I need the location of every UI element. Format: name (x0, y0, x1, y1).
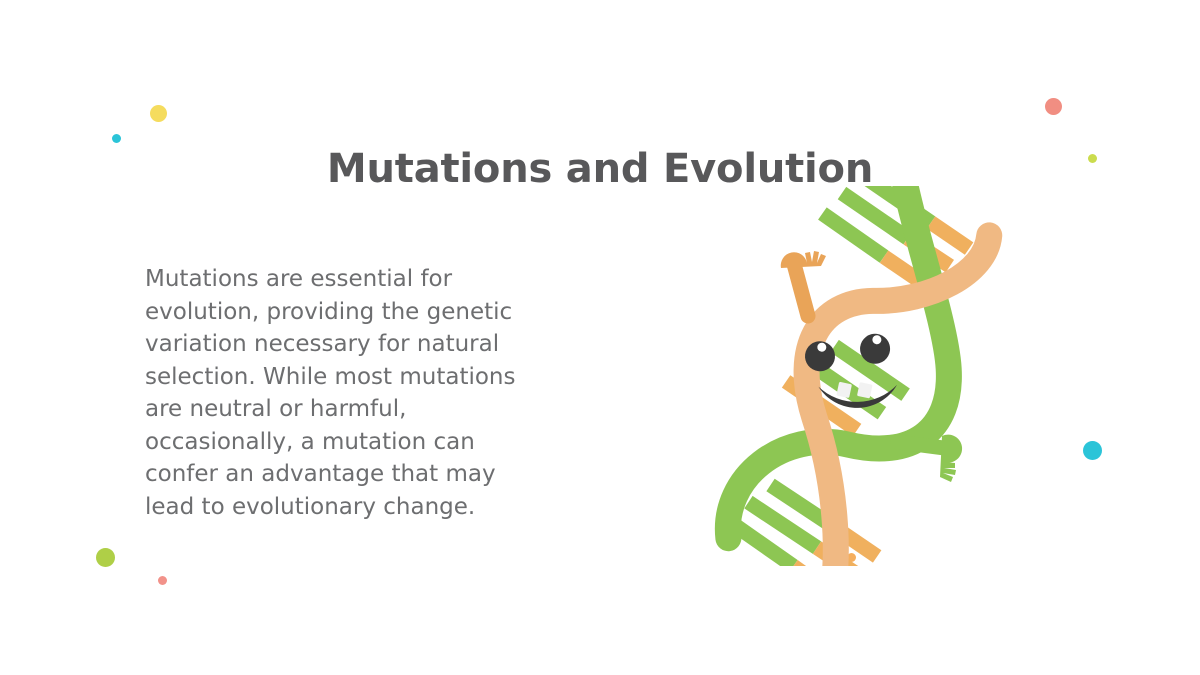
dna-right-arm (898, 435, 962, 482)
dna-left-arm (781, 251, 826, 316)
dot-salmon-bottom-left (158, 576, 167, 585)
dna-character-illustration (648, 186, 1068, 566)
dot-green-bottom-left (96, 548, 115, 567)
helix-rungs (648, 186, 1068, 566)
dot-yellow-top-left (150, 105, 167, 122)
body-paragraph: Mutations are essential for evolution, p… (145, 263, 545, 523)
slide-canvas: Mutations and Evolution Mutations are es… (0, 0, 1200, 675)
tooth-2 (857, 382, 873, 398)
dot-cyan-right (1083, 441, 1102, 460)
dot-salmon-top-right (1045, 98, 1062, 115)
dot-cyan-top-left (112, 134, 121, 143)
